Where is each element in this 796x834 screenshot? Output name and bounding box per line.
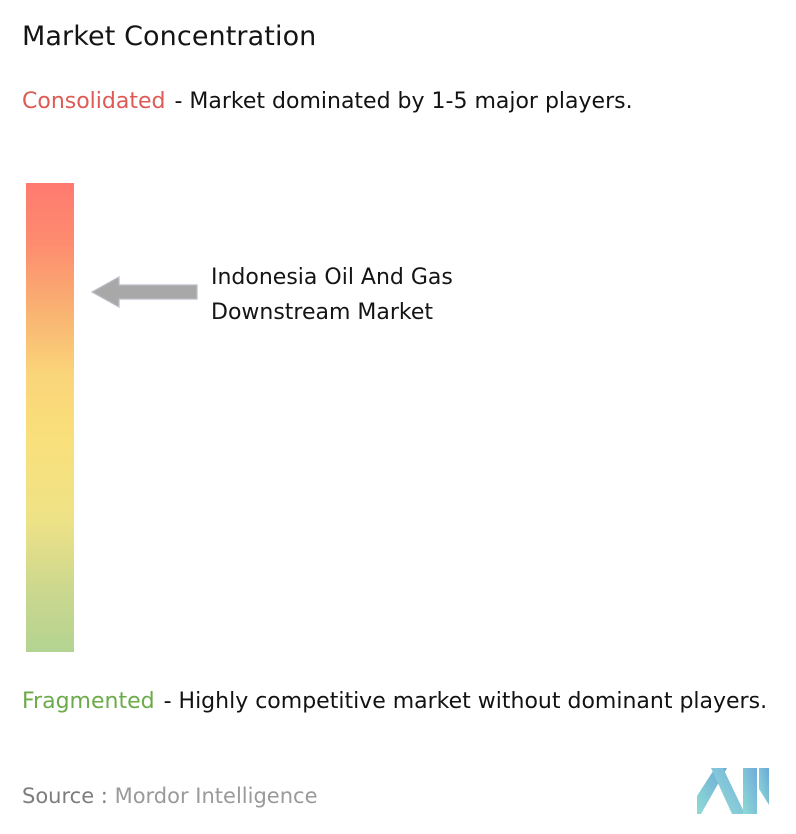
source-label: Source : <box>22 784 108 808</box>
callout-line-1: Indonesia Oil And Gas <box>211 260 631 295</box>
mordor-intelligence-logo <box>697 767 769 814</box>
legend-term-fragmented: Fragmented <box>22 689 155 714</box>
market-pointer-arrow <box>91 275 198 309</box>
page-title: Market Concentration <box>22 20 316 54</box>
legend-fragmented: Fragmented- Highly competitive market wi… <box>22 686 790 718</box>
market-callout-label: Indonesia Oil And Gas Downstream Market <box>211 260 631 330</box>
legend-description-fragmented: - Highly competitive market without domi… <box>164 689 767 714</box>
concentration-gradient-bar <box>26 183 74 652</box>
legend-term-consolidated: Consolidated <box>22 89 165 114</box>
legend-description-consolidated: - Market dominated by 1-5 major players. <box>174 89 632 114</box>
source-line: Source : Mordor Intelligence <box>22 782 317 810</box>
left-arrow-icon <box>91 275 198 309</box>
logo-mark-icon <box>697 767 769 814</box>
legend-consolidated: Consolidated- Market dominated by 1-5 ma… <box>22 86 762 118</box>
callout-line-2: Downstream Market <box>211 295 631 330</box>
source-value: Mordor Intelligence <box>115 784 318 808</box>
